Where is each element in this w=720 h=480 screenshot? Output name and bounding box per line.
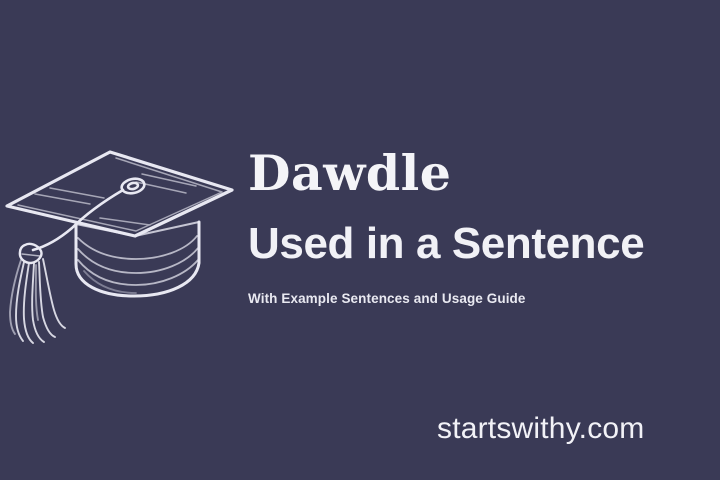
cap-base-bands <box>78 236 198 293</box>
tassel-knot <box>20 244 42 263</box>
text-block: Dawdle Used in a Sentence With Example S… <box>248 146 708 307</box>
graduation-cap-icon <box>0 132 240 347</box>
site-url: startswithy.com <box>437 412 703 446</box>
tagline: With Example Sentences and Usage Guide <box>248 291 708 307</box>
mortarboard-top-shading <box>18 158 222 231</box>
headline: Used in a Sentence <box>248 220 708 268</box>
tassel-strands <box>10 259 65 343</box>
cap-button-icon <box>120 177 145 195</box>
graphic-canvas: Dawdle Used in a Sentence With Example S… <box>0 0 720 480</box>
word-title: Dawdle <box>248 146 708 200</box>
